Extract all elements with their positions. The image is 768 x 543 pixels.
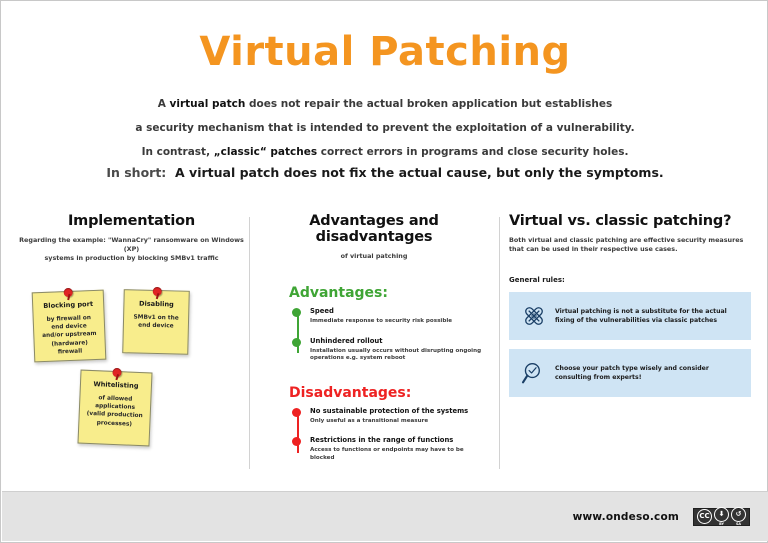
column-advantages-disadvantages: Advantages and disadvantages of virtual … xyxy=(259,213,489,474)
sticky-note: Disabling SMBv1 on the end device xyxy=(122,289,190,355)
intro-line-3: In contrast, „classic“ patches correct e… xyxy=(85,145,685,160)
pushpin-icon xyxy=(153,287,162,296)
magnifying-glass-icon xyxy=(517,358,551,388)
intro-line-1-bold: virtual patch xyxy=(170,98,246,110)
sticky-note: Blocking port by firewall on end device … xyxy=(32,290,107,363)
cc-sa-label: SA xyxy=(736,522,741,526)
advantages-title: Advantages and disadvantages xyxy=(259,213,489,245)
intro-paragraph: A virtual patch does not repair the actu… xyxy=(85,97,685,169)
virtual-vs-classic-title: Virtual vs. classic patching? xyxy=(509,213,751,229)
intro-line-3-pre: In contrast, xyxy=(142,146,214,158)
virtual-vs-classic-subtitle-line2: that can be used in their respective use… xyxy=(509,245,678,253)
sticky-note-body: SMBv1 on the end device xyxy=(130,313,182,331)
sticky-note: Whitelisting of allowed applications (va… xyxy=(77,370,152,447)
advantage-title: Unhindered rollout xyxy=(310,337,489,346)
cc-by-icon: ⬇ BY xyxy=(714,507,729,526)
column-divider-2 xyxy=(499,217,500,469)
page-title: Virtual Patching xyxy=(1,29,768,75)
bullet-dot-icon xyxy=(292,338,301,347)
creative-commons-by-sa-badge: CC ⬇ BY ↺ SA xyxy=(693,508,750,526)
bullet-dot-icon xyxy=(292,308,301,317)
bullet-dot-icon xyxy=(292,437,301,446)
advantages-heading: Advantages: xyxy=(289,285,489,301)
intro-line-2: a security mechanism that is intended to… xyxy=(85,121,685,136)
column-divider-1 xyxy=(249,217,250,469)
disadvantage-desc: Only useful as a transitional measure xyxy=(310,418,489,426)
column-implementation: Implementation Regarding the example: "W… xyxy=(19,213,244,453)
summary-text: A virtual patch does not fix the actual … xyxy=(175,165,664,180)
crossed-bandages-icon xyxy=(517,301,551,331)
sticky-note-body: of allowed applications (valid productio… xyxy=(85,394,144,429)
advantages-subtitle: of virtual patching xyxy=(259,252,489,261)
infographic-page: Virtual Patching A virtual patch does no… xyxy=(0,0,768,543)
implementation-title: Implementation xyxy=(19,213,244,229)
column-virtual-vs-classic: Virtual vs. classic patching? Both virtu… xyxy=(509,213,751,406)
virtual-vs-classic-subtitle-line1: Both virtual and classic patching are ef… xyxy=(509,236,743,244)
website-url[interactable]: www.ondeso.com xyxy=(573,511,679,523)
sticky-note-title: Blocking port xyxy=(39,300,97,311)
disadvantage-desc: Access to functions or endpoints may hav… xyxy=(310,447,489,462)
disadvantages-spine xyxy=(297,411,299,453)
list-item: Unhindered rollout Installation usually … xyxy=(310,337,489,363)
advantage-desc: Installation usually occurs without disr… xyxy=(310,348,489,363)
summary-line: In short: A virtual patch does not fix t… xyxy=(1,165,768,180)
disadvantages-heading: Disadvantages: xyxy=(289,385,489,401)
advantages-list: Speed Immediate response to security ris… xyxy=(292,307,489,363)
disadvantage-title: Restrictions in the range of functions xyxy=(310,436,489,445)
footer-content: www.ondeso.com CC ⬇ BY ↺ SA xyxy=(573,508,750,526)
sticky-notes-area: Blocking port by firewall on end device … xyxy=(19,283,244,453)
intro-line-1-pre: A xyxy=(158,98,170,110)
pushpin-icon xyxy=(64,288,73,297)
rule-text: Choose your patch type wisely and consid… xyxy=(551,364,743,382)
pushpin-icon xyxy=(112,368,121,377)
sticky-note-title: Disabling xyxy=(130,299,182,309)
cc-sa-icon: ↺ SA xyxy=(731,507,746,526)
disadvantages-list: No sustainable protection of the systems… xyxy=(292,407,489,463)
list-item: No sustainable protection of the systems… xyxy=(310,407,489,426)
rule-card: Choose your patch type wisely and consid… xyxy=(509,349,751,397)
sticky-note-body: by firewall on end device and/or upstrea… xyxy=(40,314,100,357)
list-item: Speed Immediate response to security ris… xyxy=(310,307,489,326)
intro-line-3-post: correct errors in programs and close sec… xyxy=(317,146,628,158)
cc-sa-glyph: ↺ xyxy=(731,507,746,522)
advantage-desc: Immediate response to security risk poss… xyxy=(310,318,489,326)
general-rules-label: General rules: xyxy=(509,276,751,284)
page-footer: www.ondeso.com CC ⬇ BY ↺ SA xyxy=(2,491,768,541)
cc-by-label: BY xyxy=(719,522,724,526)
rule-card: Virtual patching is not a substitute for… xyxy=(509,292,751,340)
implementation-subtitle: Regarding the example: "WannaCry" ransom… xyxy=(19,236,244,263)
intro-line-3-bold: „classic“ patches xyxy=(214,146,317,158)
implementation-subtitle-line2: systems in production by blocking SMBv1 … xyxy=(44,254,218,262)
intro-line-1-post: does not repair the actual broken applic… xyxy=(245,98,612,110)
cc-by-glyph: ⬇ xyxy=(714,507,729,522)
disadvantage-title: No sustainable protection of the systems xyxy=(310,407,489,416)
intro-line-1: A virtual patch does not repair the actu… xyxy=(85,97,685,112)
list-item: Restrictions in the range of functions A… xyxy=(310,436,489,462)
advantage-title: Speed xyxy=(310,307,489,316)
cc-icon: CC xyxy=(697,509,712,524)
virtual-vs-classic-subtitle: Both virtual and classic patching are ef… xyxy=(509,236,751,254)
summary-label: In short: xyxy=(106,165,166,180)
implementation-subtitle-line1: Regarding the example: "WannaCry" ransom… xyxy=(19,236,244,253)
sticky-note-title: Whitelisting xyxy=(87,380,145,391)
bullet-dot-icon xyxy=(292,408,301,417)
rule-text: Virtual patching is not a substitute for… xyxy=(551,307,743,325)
